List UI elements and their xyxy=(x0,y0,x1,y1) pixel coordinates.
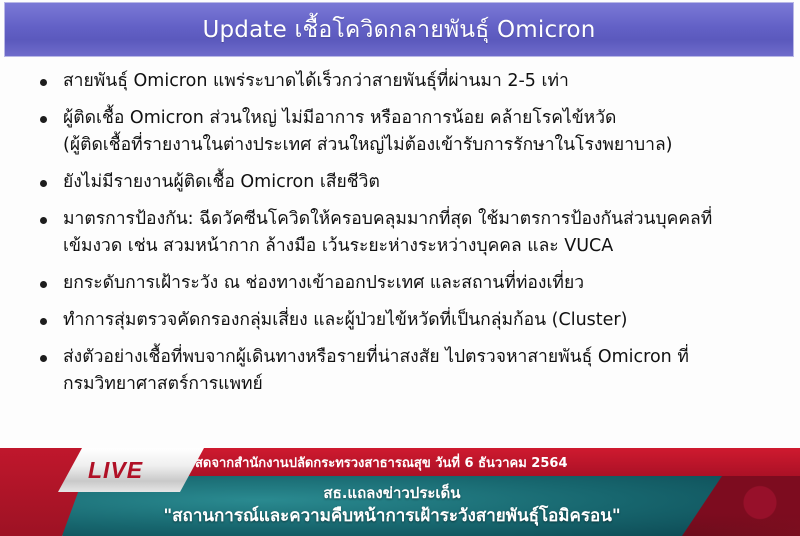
list-item-line: (ผู้ติดเชื้อที่รายงานในต่างประเทศ ส่วนให… xyxy=(63,132,774,159)
bullet-dot-icon xyxy=(40,116,47,123)
broadcast-banner: สธ.แถลงข่าวประเด็น "สถานการณ์และความคืบห… xyxy=(0,448,800,536)
list-item-lines: มาตรการป้องกัน: ฉีดวัคซีนโควิดให้ครอบคลุ… xyxy=(63,206,774,260)
list-item-line: ยังไม่มีรายงานผู้ติดเชื้อ Omicron เสียชี… xyxy=(63,169,774,196)
ticker-text: สดจากสำนักงานปลัดกระทรวงสาธารณสุข วันที่… xyxy=(195,452,568,473)
banner-headline-secondary: "สถานการณ์และความคืบหน้าการเฝ้าระวังสายพ… xyxy=(163,505,620,528)
list-item: ยกระดับการเฝ้าระวัง ณ ช่องทางเข้าออกประเ… xyxy=(26,270,774,297)
list-item-lines: สายพันธุ์ Omicron แพร่ระบาดได้เร็วกว่าสา… xyxy=(63,68,774,95)
list-item: ทำการสุ่มตรวจคัดกรองกลุ่มเสี่ยง และผู้ป่… xyxy=(26,307,774,334)
list-item-line: ยกระดับการเฝ้าระวัง ณ ช่องทางเข้าออกประเ… xyxy=(63,270,774,297)
list-item-line: ทำการสุ่มตรวจคัดกรองกลุ่มเสี่ยง และผู้ป่… xyxy=(63,307,774,334)
list-item: สายพันธุ์ Omicron แพร่ระบาดได้เร็วกว่าสา… xyxy=(26,68,774,95)
live-badge: LIVE xyxy=(58,448,204,492)
list-item: ยังไม่มีรายงานผู้ติดเชื้อ Omicron เสียชี… xyxy=(26,169,774,196)
bullet-dot-icon xyxy=(40,281,47,288)
list-item: ส่งตัวอย่างเชื้อที่พบจากผู้เดินทางหรือรา… xyxy=(26,344,774,398)
bullet-dot-icon xyxy=(40,318,47,325)
list-item-lines: ทำการสุ่มตรวจคัดกรองกลุ่มเสี่ยง และผู้ป่… xyxy=(63,307,774,334)
list-item-line: ส่งตัวอย่างเชื้อที่พบจากผู้เดินทางหรือรา… xyxy=(63,344,774,371)
bullet-dot-icon xyxy=(40,217,47,224)
slide-header-bar: Update เชื้อโควิดกลายพันธุ์ Omicron xyxy=(4,2,794,57)
list-item-lines: ยังไม่มีรายงานผู้ติดเชื้อ Omicron เสียชี… xyxy=(63,169,774,196)
presentation-slide: Update เชื้อโควิดกลายพันธุ์ Omicron สายพ… xyxy=(0,0,800,536)
list-item-lines: ยกระดับการเฝ้าระวัง ณ ช่องทางเข้าออกประเ… xyxy=(63,270,774,297)
bullet-dot-icon xyxy=(40,79,47,86)
bullet-dot-icon xyxy=(40,180,47,187)
list-item-lines: ผู้ติดเชื้อ Omicron ส่วนใหญ่ ไม่มีอาการ … xyxy=(63,105,774,159)
page-title: Update เชื้อโควิดกลายพันธุ์ Omicron xyxy=(202,12,595,48)
list-item-line: ผู้ติดเชื้อ Omicron ส่วนใหญ่ ไม่มีอาการ … xyxy=(63,105,774,132)
list-item-line: มาตรการป้องกัน: ฉีดวัคซีนโควิดให้ครอบคลุ… xyxy=(63,206,774,233)
list-item-line: กรมวิทยาศาสตร์การแพทย์ xyxy=(63,371,774,398)
list-item: ผู้ติดเชื้อ Omicron ส่วนใหญ่ ไม่มีอาการ … xyxy=(26,105,774,159)
bullet-dot-icon xyxy=(40,355,47,362)
list-item-lines: ส่งตัวอย่างเชื้อที่พบจากผู้เดินทางหรือรา… xyxy=(63,344,774,398)
slide-content: สายพันธุ์ Omicron แพร่ระบาดได้เร็วกว่าสา… xyxy=(0,60,800,445)
banner-ticker-strip: สดจากสำนักงานปลัดกระทรวงสาธารณสุข วันที่… xyxy=(150,448,800,476)
list-item-line: สายพันธุ์ Omicron แพร่ระบาดได้เร็วกว่าสา… xyxy=(63,68,774,95)
banner-headline-primary: สธ.แถลงข่าวประเด็น xyxy=(323,484,460,503)
list-item-line: เข้มงวด เช่น สวมหน้ากาก ล้างมือ เว้นระยะ… xyxy=(63,233,774,260)
list-item: มาตรการป้องกัน: ฉีดวัคซีนโควิดให้ครอบคลุ… xyxy=(26,206,774,260)
live-badge-label: LIVE xyxy=(88,459,143,482)
